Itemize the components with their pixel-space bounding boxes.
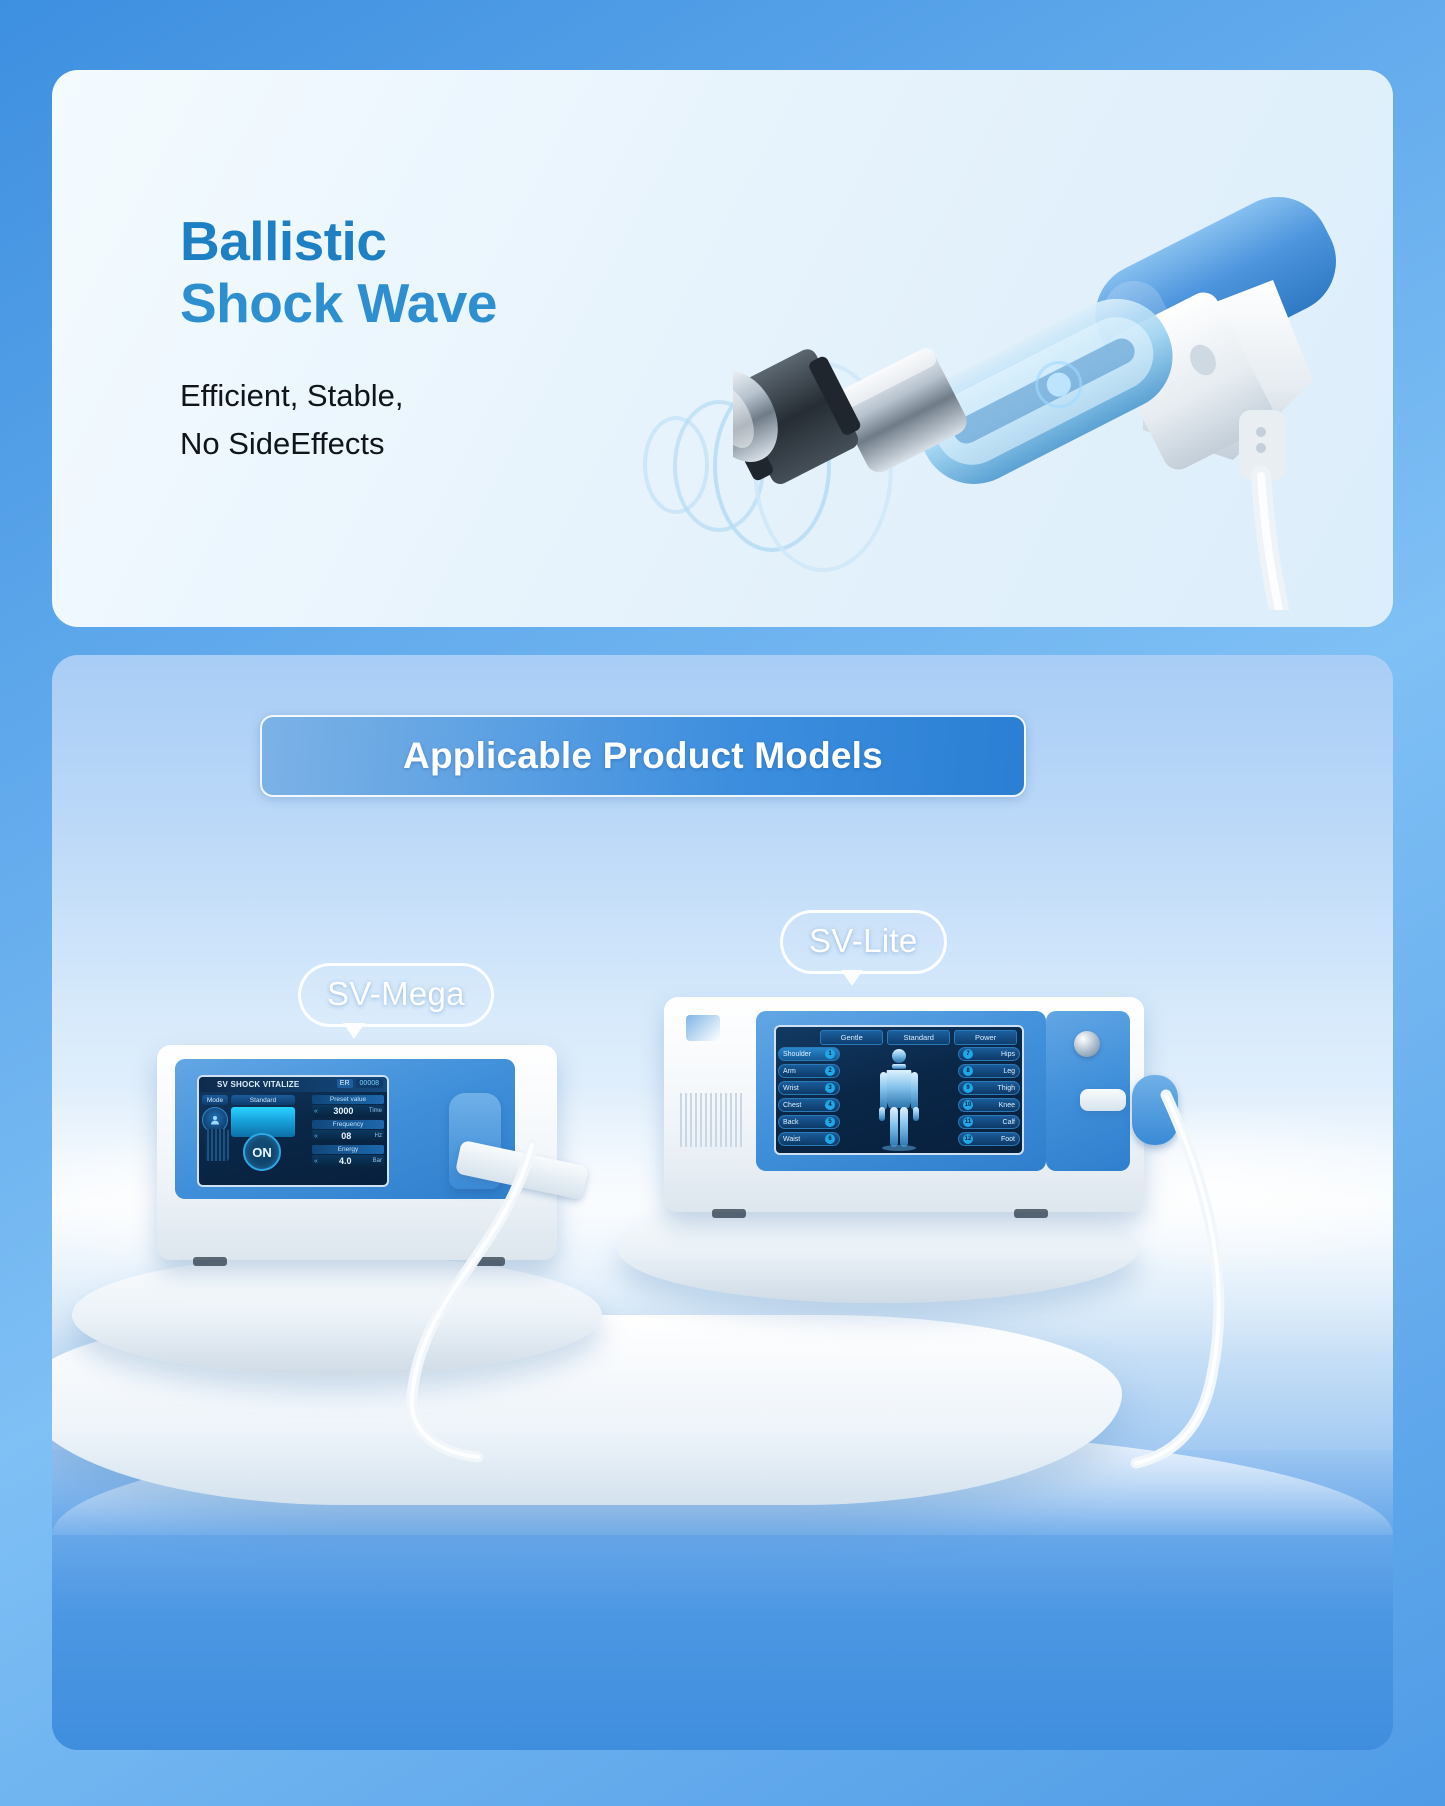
title-line-2: Shock Wave xyxy=(180,272,497,334)
sv-mega-brand: SV SHOCK VITALIZE xyxy=(199,1080,299,1089)
section-banner-label: Applicable Product Models xyxy=(403,735,883,777)
body-part-arm[interactable]: Arm 2 xyxy=(778,1064,840,1078)
model-label-sv-lite-text: SV-Lite xyxy=(809,922,918,959)
sv-mega-titlebar: SV SHOCK VITALIZE ER 00008 xyxy=(199,1077,387,1092)
body-part-column-right: 7 Hips 8 Leg 9 Thigh 10 Knee xyxy=(958,1047,1020,1151)
section-banner: Applicable Product Models xyxy=(260,715,1026,797)
readout-preset-value: Preset value « 3000 Time xyxy=(312,1095,384,1117)
device-foot xyxy=(712,1209,746,1218)
sv-lite-screen: Gentle Standard Power Shoulder 1 Arm 2 W… xyxy=(774,1025,1024,1155)
sv-mega-counter-tag: ER xyxy=(337,1079,353,1088)
body-part-hips[interactable]: 7 Hips xyxy=(958,1047,1020,1061)
hero-subtitle: Efficient, Stable, No SideEffects xyxy=(180,372,497,468)
tab-gentle[interactable]: Gentle xyxy=(820,1030,883,1045)
sv-mega-screen: SV SHOCK VITALIZE ER 00008 Mode Standard xyxy=(197,1075,389,1187)
decrease-icon[interactable]: « xyxy=(314,1158,318,1165)
sv-lite-body-part-grid: Shoulder 1 Arm 2 Wrist 3 Chest 4 xyxy=(778,1047,1020,1151)
body-part-column-left: Shoulder 1 Arm 2 Wrist 3 Chest 4 xyxy=(778,1047,840,1151)
sv-mega-counter: ER 00008 xyxy=(337,1079,383,1088)
sv-mega-mode-display: Standard xyxy=(231,1095,295,1137)
decrease-icon[interactable]: « xyxy=(314,1133,318,1140)
sv-lite-vent-grille xyxy=(680,1093,742,1147)
sv-mega-cable xyxy=(382,1135,662,1465)
hero-card: Ballistic Shock Wave Efficient, Stable, … xyxy=(52,70,1393,627)
sv-mega-readouts: Preset value « 3000 Time Frequency « 08 … xyxy=(312,1095,384,1170)
handpiece-svg xyxy=(733,110,1393,610)
body-part-foot[interactable]: 12 Foot xyxy=(958,1132,1020,1146)
device-foot xyxy=(1014,1209,1048,1218)
sv-mega-mode-label: Mode xyxy=(202,1095,228,1105)
body-part-wrist[interactable]: Wrist 3 xyxy=(778,1081,840,1095)
tab-power[interactable]: Power xyxy=(954,1030,1017,1045)
sv-mega-mode-column: Mode xyxy=(202,1095,228,1133)
readout-frequency: Frequency « 08 Hz xyxy=(312,1120,384,1142)
sv-lite-carry-handle xyxy=(686,1015,720,1041)
hero-text-block: Ballistic Shock Wave Efficient, Stable, … xyxy=(180,210,497,468)
subtitle-line-2: No SideEffects xyxy=(180,420,497,468)
sv-lite-cable xyxy=(1062,1085,1322,1475)
sv-mega-counter-value: 00008 xyxy=(356,1079,383,1088)
model-label-sv-mega: SV-Mega xyxy=(298,963,494,1027)
decrease-icon[interactable]: « xyxy=(314,1108,318,1115)
body-part-leg[interactable]: 8 Leg xyxy=(958,1064,1020,1078)
readout-energy: Energy « 4.0 Bar xyxy=(312,1145,384,1167)
body-part-thigh[interactable]: 9 Thigh xyxy=(958,1081,1020,1095)
model-label-sv-mega-text: SV-Mega xyxy=(327,975,465,1012)
product-models-card: Applicable Product Models SV-Mega SV-Lit… xyxy=(52,655,1393,1750)
sv-lite-intensity-tabs: Gentle Standard Power xyxy=(820,1030,1017,1045)
sv-mega-power-button[interactable]: ON xyxy=(243,1133,281,1171)
tab-standard[interactable]: Standard xyxy=(887,1030,950,1045)
sv-mega-power-label: ON xyxy=(252,1145,272,1160)
title-line-1: Ballistic xyxy=(180,210,497,272)
body-part-back[interactable]: Back 5 xyxy=(778,1115,840,1129)
sv-lite-control-knob[interactable] xyxy=(1074,1031,1100,1057)
applicator-heads-icon xyxy=(205,1129,229,1161)
handpiece-illustration xyxy=(633,70,1393,627)
subtitle-line-1: Efficient, Stable, xyxy=(180,372,497,420)
page-title: Ballistic Shock Wave xyxy=(180,210,497,334)
body-part-waist[interactable]: Waist 6 xyxy=(778,1132,840,1146)
body-part-calf[interactable]: 11 Calf xyxy=(958,1115,1020,1129)
human-body-diagram-icon xyxy=(840,1047,958,1151)
body-part-knee[interactable]: 10 Knee xyxy=(958,1098,1020,1112)
handpiece-body xyxy=(733,110,1393,610)
body-part-chest[interactable]: Chest 4 xyxy=(778,1098,840,1112)
model-label-sv-lite: SV-Lite xyxy=(780,910,947,974)
sv-mega-mode-value: Standard xyxy=(231,1095,295,1105)
device-foot xyxy=(193,1257,227,1266)
body-part-shoulder[interactable]: Shoulder 1 xyxy=(778,1047,840,1061)
